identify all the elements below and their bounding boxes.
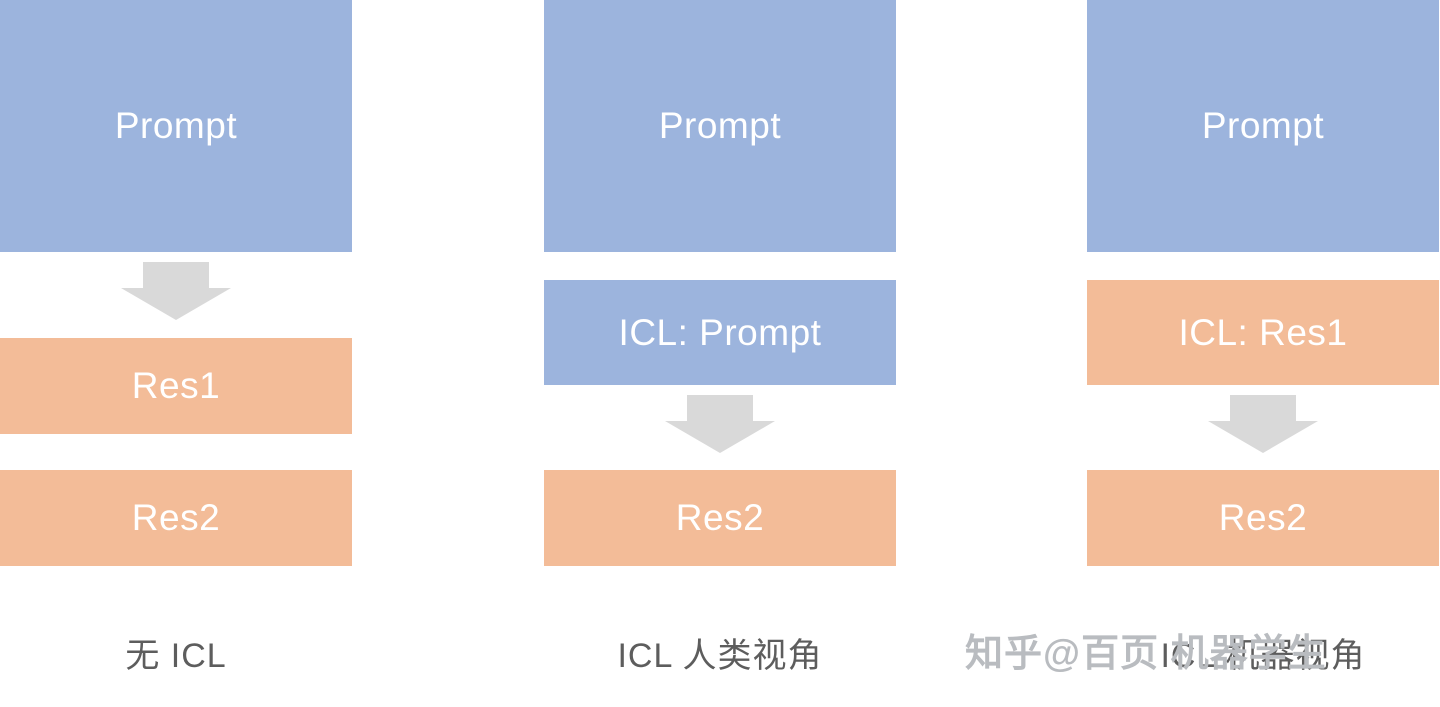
- block-res1: Res1: [0, 338, 352, 434]
- block-res2: Res2: [1087, 470, 1439, 566]
- block-res2: Res2: [544, 470, 896, 566]
- column-caption-no-icl: 无 ICL: [0, 628, 352, 677]
- watermark: 知乎@百页 机器学生: [965, 622, 1327, 677]
- watermark-logo: 知乎: [965, 633, 1043, 675]
- block-prompt: Prompt: [0, 0, 352, 252]
- watermark-at-symbol: @: [1043, 633, 1081, 675]
- block-res2: Res2: [0, 470, 352, 566]
- block-icl-prompt: ICL: Prompt: [544, 280, 896, 385]
- block-icl-res1: ICL: Res1: [1087, 280, 1439, 385]
- block-prompt: Prompt: [1087, 0, 1439, 252]
- down-arrow-icon: [121, 262, 231, 320]
- down-arrow-icon: [1208, 395, 1318, 453]
- diagram-canvas: Prompt Res1 Res2 无 ICL Prompt ICL: Promp…: [0, 0, 1440, 707]
- down-arrow-icon: [665, 395, 775, 453]
- column-caption-icl-human-view: ICL 人类视角: [544, 628, 896, 677]
- block-prompt: Prompt: [544, 0, 896, 252]
- watermark-username: 百页 机器学生: [1081, 633, 1327, 675]
